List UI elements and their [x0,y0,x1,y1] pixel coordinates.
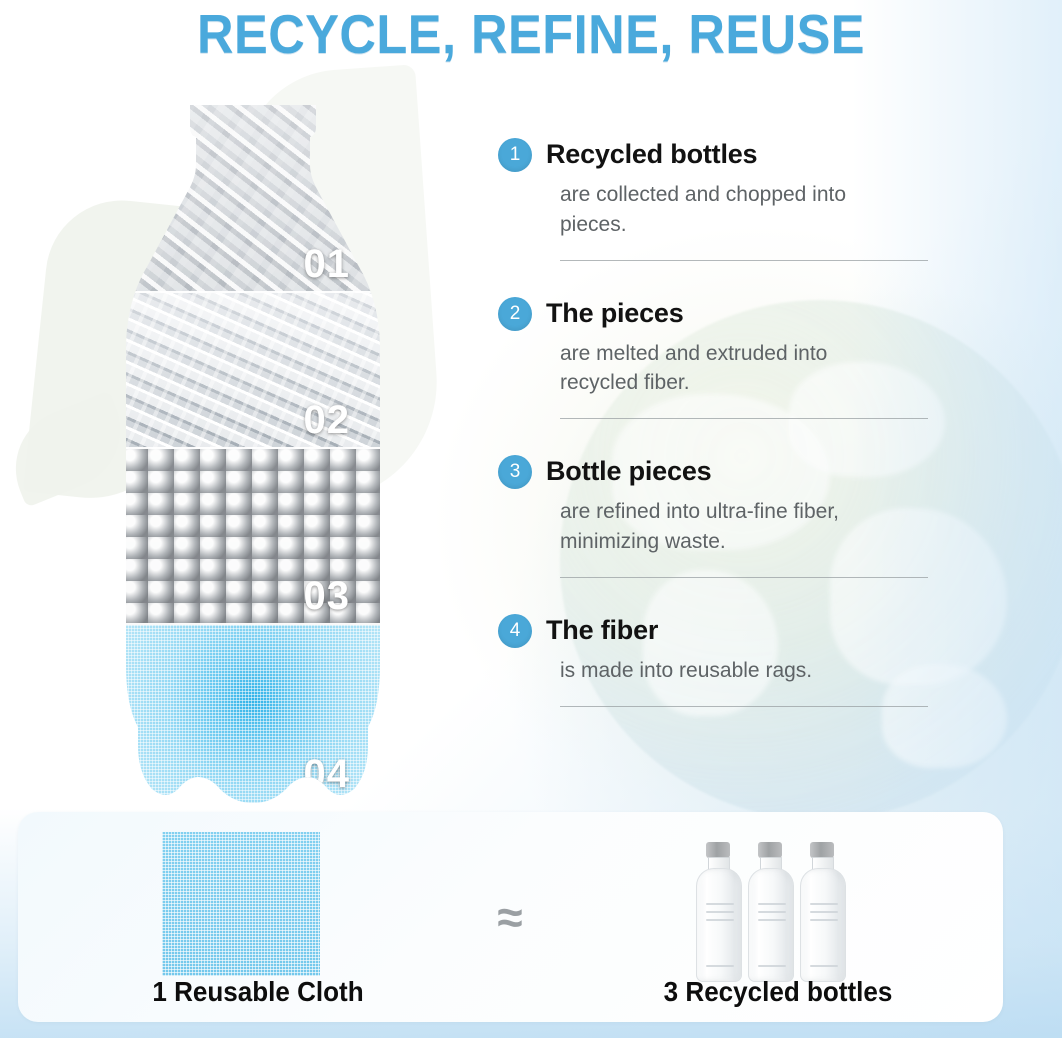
bottle-band-03: 03 [122,449,384,625]
step-header: 2 The pieces [498,297,928,331]
step-number-badge: 3 [498,455,532,489]
bottles-label: 3 Recycled bottles [592,976,964,1008]
mini-bottle [694,842,742,982]
step-item-2: 2 The pieces are melted and extruded int… [498,297,928,426]
step-body: are melted and extruded into recycled fi… [560,339,890,399]
step-item-4: 4 The fiber is made into reusable rags. [498,614,928,713]
comparison-card-inner: ≈ [18,812,1003,1022]
step-header: 3 Bottle pieces [498,455,928,489]
step-title: The fiber [546,616,658,646]
step-divider [560,577,928,578]
steps-list: 1 Recycled bottles are collected and cho… [498,138,928,713]
step-divider [560,706,928,707]
page-title: RECYCLE, REFINE, REUSE [42,2,1019,66]
infographic-page: RECYCLE, REFINE, REUSE 01 02 03 04 1 [0,0,1062,1038]
step-body: are refined into ultra-fine fiber, minim… [560,497,890,557]
bottle-body [800,868,846,982]
bottle-cap-icon [758,842,782,858]
reusable-cloth-swatch [162,832,320,976]
step-divider [560,260,928,261]
bottle-shape: 01 02 03 04 [122,105,384,795]
bottle-diagram: 01 02 03 04 [122,105,384,795]
step-title: The pieces [546,299,684,329]
step-item-3: 3 Bottle pieces are refined into ultra-f… [498,455,928,584]
step-header: 1 Recycled bottles [498,138,928,172]
bottle-band-number: 04 [304,752,351,797]
bottle-cap-icon [810,842,834,858]
spacer [498,267,928,297]
bottle-band-04: 04 [122,625,384,803]
approximately-equal-icon: ≈ [480,894,540,940]
step-item-1: 1 Recycled bottles are collected and cho… [498,138,928,267]
leaf-watermark-small [0,390,138,507]
bottle-band-02: 02 [122,293,384,449]
mini-bottle [798,842,846,982]
bottle-body [696,868,742,982]
comparison-card: ≈ [18,812,1003,1022]
recycled-bottles-group [694,832,864,982]
step-number-badge: 2 [498,297,532,331]
bottle-band-number: 02 [304,398,351,443]
bottle-band-01: 01 [122,105,384,293]
step-header: 4 The fiber [498,614,928,648]
mini-bottle [746,842,794,982]
spacer [498,425,928,455]
bottle-band-number: 01 [304,242,351,287]
step-body: is made into reusable rags. [560,656,890,686]
step-title: Recycled bottles [546,140,757,170]
step-number-badge: 1 [498,138,532,172]
bottle-cap-icon [706,842,730,858]
bottle-band-number: 03 [304,574,351,619]
step-title: Bottle pieces [546,457,711,487]
spacer [498,584,928,614]
cloth-label: 1 Reusable Cloth [91,976,426,1008]
step-number-badge: 4 [498,614,532,648]
bottle-body [748,868,794,982]
step-divider [560,418,928,419]
step-body: are collected and chopped into pieces. [560,180,890,240]
